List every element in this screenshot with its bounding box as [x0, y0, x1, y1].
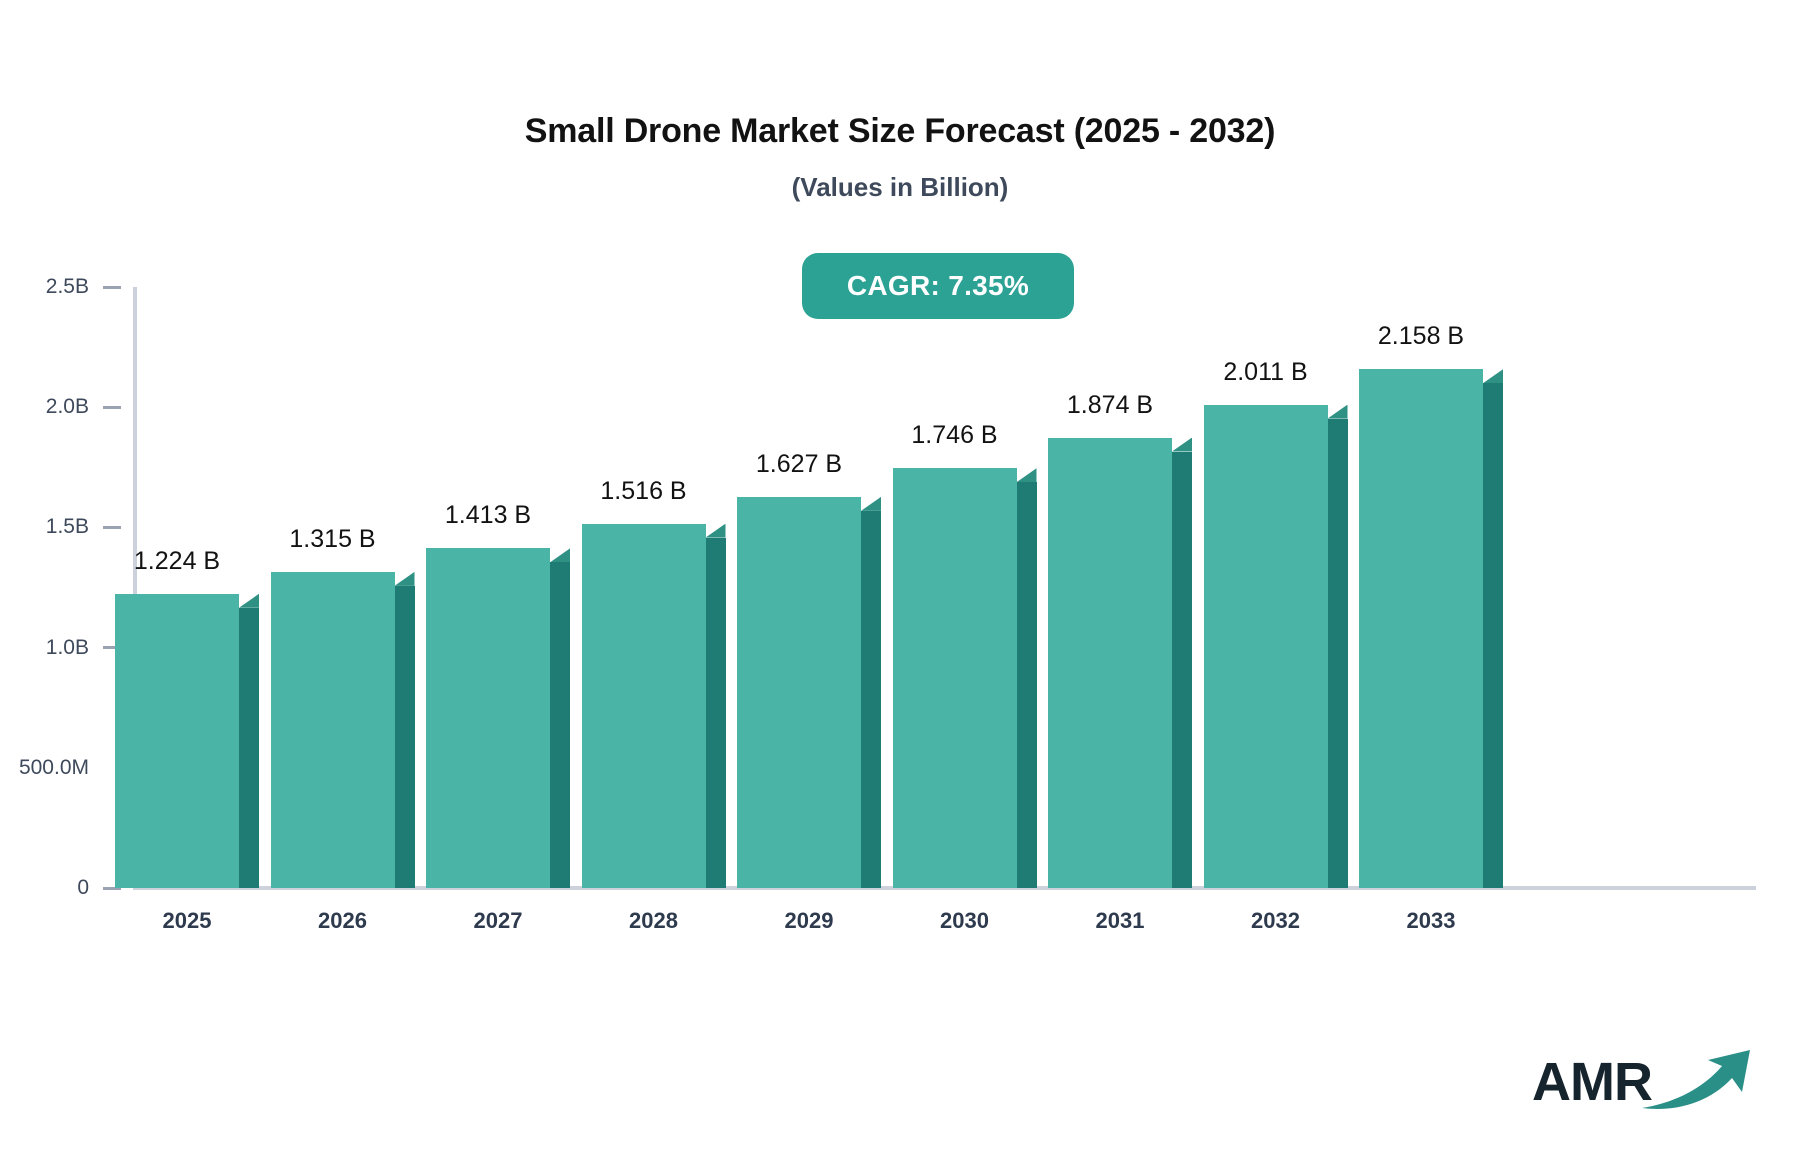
bar-front-face	[1204, 405, 1328, 888]
bar-front-face	[1048, 438, 1172, 889]
y-axis-tick-mark	[103, 406, 121, 409]
bar-column[interactable]: 1.746 B	[893, 454, 1037, 888]
y-axis-tick-mark	[103, 286, 121, 289]
bar-value-label: 1.413 B	[392, 501, 584, 530]
bar-front-face	[893, 468, 1017, 888]
bar-top-bevel	[1172, 438, 1192, 452]
y-axis-tick-label: 1.0B	[46, 636, 89, 660]
bar-value-label: 1.874 B	[1014, 391, 1206, 420]
x-axis-tick-label: 2030	[875, 908, 1055, 934]
bar-top-bevel	[1017, 468, 1037, 482]
bar-column[interactable]: 1.874 B	[1048, 424, 1192, 889]
bar-column[interactable]: 1.224 B	[115, 580, 259, 888]
bar-value-label: 1.516 B	[548, 477, 740, 506]
x-axis-tick-label: 2026	[253, 908, 433, 934]
bar-top-bevel	[550, 548, 570, 562]
bar-side-face	[550, 562, 570, 888]
bar-side-face	[1172, 452, 1192, 889]
bar-front-face	[737, 497, 861, 888]
y-axis-tick-label: 500.0M	[19, 756, 89, 780]
bar-front-face	[582, 524, 706, 888]
bar-column[interactable]: 1.413 B	[426, 534, 570, 888]
bar-side-face	[1483, 383, 1503, 888]
bar-top-bevel	[395, 572, 415, 586]
chart-canvas: Small Drone Market Size Forecast (2025 -…	[0, 0, 1800, 1156]
y-axis-tick-mark	[103, 526, 121, 529]
amr-logo-text: AMR	[1532, 1055, 1652, 1109]
bar-value-label: 2.158 B	[1325, 322, 1517, 351]
bar-top-bevel	[239, 594, 259, 608]
bar-side-face	[1017, 482, 1037, 888]
bar-front-face	[271, 572, 395, 888]
growth-arrow-icon	[1638, 1046, 1758, 1123]
bar-top-bevel	[861, 497, 881, 511]
bar-front-face	[1359, 369, 1483, 888]
x-axis-tick-label: 2028	[564, 908, 744, 934]
bar-top-bevel	[1483, 369, 1503, 383]
x-axis-tick-label: 2033	[1341, 908, 1521, 934]
y-axis-tick-label: 2.0B	[46, 395, 89, 419]
x-axis-tick-label: 2029	[719, 908, 899, 934]
y-axis-tick-label: 0	[77, 876, 89, 900]
x-axis-tick-label: 2025	[97, 908, 277, 934]
bar-top-bevel	[706, 524, 726, 538]
bar-column[interactable]: 1.627 B	[737, 483, 881, 888]
bar-value-label: 2.011 B	[1170, 358, 1362, 387]
bar-side-face	[395, 586, 415, 888]
x-axis-tick-label: 2031	[1030, 908, 1210, 934]
bar-value-label: 1.627 B	[703, 450, 895, 479]
x-axis-tick-label: 2032	[1186, 908, 1366, 934]
bar-side-face	[706, 538, 726, 888]
bar-column[interactable]: 1.516 B	[582, 510, 726, 888]
plot-area: 0500.0M1.0B1.5B2.0B2.5B 1.224 B1.315 B1.…	[0, 0, 1800, 1156]
bar-front-face	[426, 548, 550, 888]
x-axis-tick-label: 2027	[408, 908, 588, 934]
amr-logo: AMR	[1532, 1040, 1758, 1123]
bar-column[interactable]: 2.011 B	[1204, 391, 1348, 888]
bar-side-face	[861, 511, 881, 888]
y-axis-tick-label: 2.5B	[46, 275, 89, 299]
y-axis-tick-label: 1.5B	[46, 515, 89, 539]
bar-top-bevel	[1328, 405, 1348, 419]
bar-column[interactable]: 1.315 B	[271, 558, 415, 888]
bar-front-face	[115, 594, 239, 888]
bar-side-face	[239, 608, 259, 888]
bar-column[interactable]: 2.158 B	[1359, 355, 1503, 888]
bar-value-label: 1.746 B	[859, 421, 1051, 450]
bar-side-face	[1328, 419, 1348, 888]
